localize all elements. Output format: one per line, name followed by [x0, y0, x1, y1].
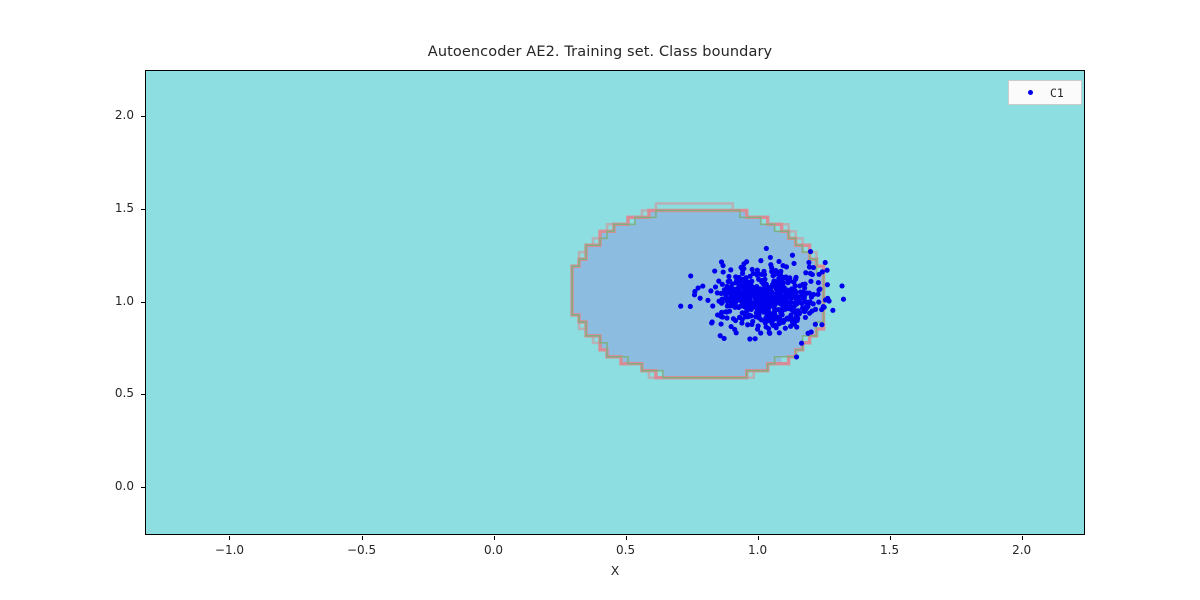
scatter-point — [788, 278, 793, 283]
scatter-point — [747, 336, 752, 341]
scatter-point — [747, 313, 752, 318]
scatter-point — [720, 282, 725, 287]
scatter-point — [766, 295, 771, 300]
scatter-point — [738, 279, 743, 284]
scatter-point — [825, 282, 830, 287]
scatter-point — [716, 299, 721, 304]
scatter-point — [809, 329, 814, 334]
y-tick-label: 0.5 — [74, 386, 134, 400]
scatter-point — [816, 280, 821, 285]
x-tick-label: 2.0 — [992, 543, 1052, 557]
scatter-point — [784, 300, 789, 305]
scatter-point — [825, 268, 830, 273]
scatter-point — [739, 320, 744, 325]
legend-marker-c1-icon — [1028, 90, 1033, 95]
scatter-point — [755, 268, 760, 273]
scatter-point — [768, 255, 773, 260]
x-tick-label: 1.5 — [860, 543, 920, 557]
scatter-point — [813, 322, 818, 327]
scatter-point — [800, 282, 805, 287]
chart-title: Autoencoder AE2. Training set. Class bou… — [0, 44, 1200, 60]
scatter-point — [746, 294, 751, 299]
y-tick-mark — [141, 302, 145, 303]
scatter-point — [744, 302, 749, 307]
scatter-point — [726, 279, 731, 284]
scatter-point — [726, 274, 731, 279]
scatter-point — [783, 306, 788, 311]
x-tick-label: −0.5 — [332, 543, 392, 557]
scatter-point — [774, 299, 779, 304]
scatter-point — [737, 285, 742, 290]
scatter-point — [803, 270, 808, 275]
scatter-point — [772, 309, 777, 314]
scatter-point — [688, 273, 693, 278]
y-tick-mark — [141, 487, 145, 488]
scatter-point — [819, 322, 824, 327]
legend-label-c1: C1 — [1050, 86, 1064, 100]
scatter-point — [718, 321, 723, 326]
scatter-point — [732, 294, 737, 299]
scatter-point — [790, 253, 795, 258]
scatter-point — [771, 292, 776, 297]
scatter-point — [765, 300, 770, 305]
scatter-point — [759, 279, 764, 284]
matplotlib-figure: Autoencoder AE2. Training set. Class bou… — [0, 0, 1200, 600]
scatter-point — [794, 354, 799, 359]
scatter-point — [720, 314, 725, 319]
scatter-point — [741, 266, 746, 271]
scatter-point — [786, 316, 791, 321]
x-tick-label: 1.0 — [728, 543, 788, 557]
scatter-point — [724, 284, 729, 289]
y-tick-label: 1.5 — [74, 201, 134, 215]
scatter-point — [803, 315, 808, 320]
scatter-point — [721, 269, 726, 274]
scatter-point — [741, 261, 746, 266]
scatter-point — [770, 283, 775, 288]
scatter-point — [789, 286, 794, 291]
x-axis-label: X — [145, 563, 1085, 578]
scatter-point — [773, 268, 778, 273]
scatter-point — [733, 280, 738, 285]
scatter-point — [719, 259, 724, 264]
scatter-point — [710, 303, 715, 308]
scatter-point — [705, 298, 710, 303]
scatter-point — [783, 326, 788, 331]
y-tick-label: 1.0 — [74, 294, 134, 308]
x-tick-mark — [229, 536, 230, 540]
scatter-point — [758, 258, 763, 263]
scatter-point — [688, 304, 693, 309]
scatter-point — [734, 330, 739, 335]
plot-canvas — [146, 71, 1084, 534]
scatter-point — [764, 246, 769, 251]
scatter-point — [813, 307, 818, 312]
scatter-point — [839, 283, 844, 288]
scatter-point — [802, 295, 807, 300]
scatter-point — [817, 286, 822, 291]
scatter-point — [715, 312, 720, 317]
scatter-point — [761, 309, 766, 314]
scatter-point — [777, 330, 782, 335]
scatter-point — [819, 307, 824, 312]
scatter-point — [708, 288, 713, 293]
scatter-point — [830, 308, 835, 313]
scatter-point — [724, 315, 729, 320]
scatter-point — [794, 324, 799, 329]
scatter-point — [745, 322, 750, 327]
x-tick-mark — [758, 536, 759, 540]
scatter-point — [782, 289, 787, 294]
scatter-point — [777, 321, 782, 326]
scatter-point — [810, 272, 815, 277]
x-tick-mark — [890, 536, 891, 540]
scatter-point — [802, 309, 807, 314]
scatter-point — [808, 249, 813, 254]
scatter-point — [766, 326, 771, 331]
scatter-point — [760, 295, 765, 300]
scatter-point — [808, 279, 813, 284]
scatter-point — [793, 277, 798, 282]
scatter-point — [718, 333, 723, 338]
scatter-point — [753, 336, 758, 341]
scatter-point — [768, 262, 773, 267]
x-tick-mark — [626, 536, 627, 540]
scatter-point — [770, 314, 775, 319]
x-tick-label: 0.5 — [596, 543, 656, 557]
y-tick-label: 2.0 — [74, 108, 134, 122]
scatter-point — [823, 260, 828, 265]
scatter-point — [742, 311, 747, 316]
scatter-point — [776, 259, 781, 264]
scatter-point — [731, 316, 736, 321]
scatter-point — [799, 341, 804, 346]
scatter-point — [780, 263, 785, 268]
scatter-point — [736, 305, 741, 310]
scatter-point — [780, 312, 785, 317]
scatter-point — [820, 269, 825, 274]
scatter-point — [692, 289, 697, 294]
scatter-point — [755, 312, 760, 317]
scatter-point — [766, 307, 771, 312]
scatter-point — [747, 287, 752, 292]
scatter-point — [770, 273, 775, 278]
scatter-point — [678, 304, 683, 309]
scatter-point — [755, 300, 760, 305]
scatter-point — [798, 289, 803, 294]
y-tick-mark — [141, 394, 145, 395]
scatter-point — [712, 268, 717, 273]
scatter-point — [759, 317, 764, 322]
x-tick-label: −1.0 — [199, 543, 259, 557]
y-tick-mark — [141, 209, 145, 210]
scatter-point — [811, 292, 816, 297]
scatter-point — [758, 286, 763, 291]
scatter-point — [713, 284, 718, 289]
x-tick-mark — [494, 536, 495, 540]
x-tick-label: 0.0 — [464, 543, 524, 557]
scatter-point — [759, 272, 764, 277]
scatter-point — [806, 260, 811, 265]
scatter-point — [797, 311, 802, 316]
scatter-point — [795, 318, 800, 323]
scatter-point — [740, 271, 745, 276]
scatter-point — [710, 319, 715, 324]
scatter-point — [724, 295, 729, 300]
scatter-point — [715, 290, 720, 295]
scatter-point — [733, 298, 738, 303]
scatter-point — [765, 285, 770, 290]
scatter-point — [698, 296, 703, 301]
scatter-point — [807, 264, 812, 269]
scatter-point — [756, 323, 761, 328]
scatter-point — [725, 303, 730, 308]
scatter-point — [700, 284, 705, 289]
scatter-point — [791, 261, 796, 266]
scatter-point — [841, 297, 846, 302]
scatter-point — [783, 274, 788, 279]
scatter-point — [789, 294, 794, 299]
scatter-point — [750, 319, 755, 324]
scatter-point — [728, 267, 733, 272]
scatter-point — [825, 296, 830, 301]
scatter-point — [816, 300, 821, 305]
x-tick-mark — [362, 536, 363, 540]
scatter-point — [763, 315, 768, 320]
x-tick-mark — [1022, 536, 1023, 540]
scatter-point — [797, 298, 802, 303]
scatter-point — [731, 303, 736, 308]
y-tick-label: 0.0 — [74, 479, 134, 493]
scatter-point — [775, 281, 780, 286]
y-tick-mark — [141, 116, 145, 117]
plot-axes-area — [145, 70, 1085, 535]
legend-box: C1 — [1008, 80, 1082, 105]
scatter-point — [751, 271, 756, 276]
